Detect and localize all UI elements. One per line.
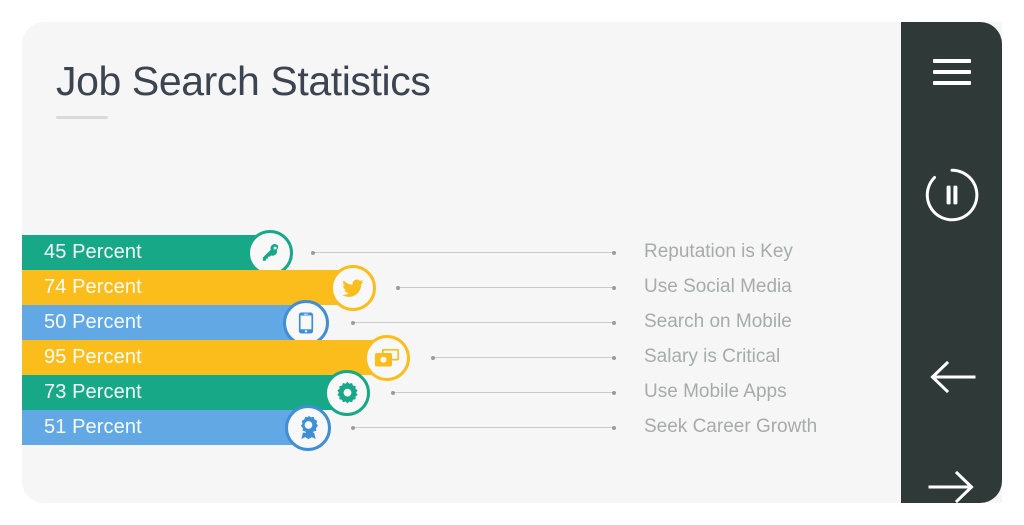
gear-icon[interactable]: [324, 370, 370, 416]
stat-value: 95 Percent: [44, 346, 142, 369]
control-rail: [901, 22, 1002, 503]
stat-bar: 73 Percent: [22, 375, 347, 410]
table-row[interactable]: 73 Percent Use Mobile Apps: [22, 375, 1002, 410]
connector-line: [432, 357, 615, 358]
stat-bar: 95 Percent: [22, 340, 387, 375]
hamburger-bar: [933, 70, 971, 74]
connector-line: [312, 252, 615, 253]
pause-icon[interactable]: [922, 165, 982, 225]
stat-value: 74 Percent: [44, 276, 142, 299]
key-icon[interactable]: [247, 230, 293, 276]
stat-value: 50 Percent: [44, 311, 142, 334]
twitter-bird-icon[interactable]: [330, 265, 376, 311]
stat-bar: 51 Percent: [22, 410, 309, 445]
stat-label: Salary is Critical: [644, 346, 780, 368]
table-row[interactable]: 95 Percent Salary is Critical: [22, 340, 1002, 375]
mobile-phone-icon[interactable]: [283, 300, 329, 346]
arrow-right-icon[interactable]: [922, 457, 982, 503]
stat-bar: 45 Percent: [22, 235, 270, 270]
page-title: Job Search Statistics: [56, 58, 430, 105]
hamburger-bar: [933, 59, 971, 63]
banknotes-icon[interactable]: [364, 335, 410, 381]
connector-line: [352, 427, 615, 428]
title-block: Job Search Statistics: [56, 58, 430, 119]
stat-bar: 50 Percent: [22, 305, 306, 340]
presentation-frame: Job Search Statistics 45 Percent Reputat…: [0, 0, 1024, 525]
slide-canvas: Job Search Statistics 45 Percent Reputat…: [22, 22, 1002, 503]
table-row[interactable]: 45 Percent Reputation is Key: [22, 235, 1002, 270]
stat-label: Use Mobile Apps: [644, 381, 787, 403]
stat-label: Use Social Media: [644, 276, 792, 298]
title-underline-accent: [56, 116, 108, 119]
hamburger-menu-icon[interactable]: [922, 42, 982, 102]
stat-value: 45 Percent: [44, 241, 142, 264]
table-row[interactable]: 51 Percent Seek Career Growth: [22, 410, 1002, 445]
stat-label: Seek Career Growth: [644, 416, 817, 438]
connector-line: [392, 392, 615, 393]
connector-line: [397, 287, 615, 288]
table-row[interactable]: 74 Percent Use Social Media: [22, 270, 1002, 305]
stat-label: Reputation is Key: [644, 241, 793, 263]
hamburger-bar: [933, 81, 971, 85]
statistics-bar-chart: 45 Percent Reputation is Key 74 Percent: [22, 235, 1002, 465]
table-row[interactable]: 50 Percent Search on Mobile: [22, 305, 1002, 340]
stat-value: 73 Percent: [44, 381, 142, 404]
connector-line: [352, 322, 615, 323]
arrow-left-icon[interactable]: [922, 347, 982, 407]
stat-label: Search on Mobile: [644, 311, 792, 333]
medal-icon[interactable]: [285, 405, 331, 451]
stat-value: 51 Percent: [44, 416, 142, 439]
